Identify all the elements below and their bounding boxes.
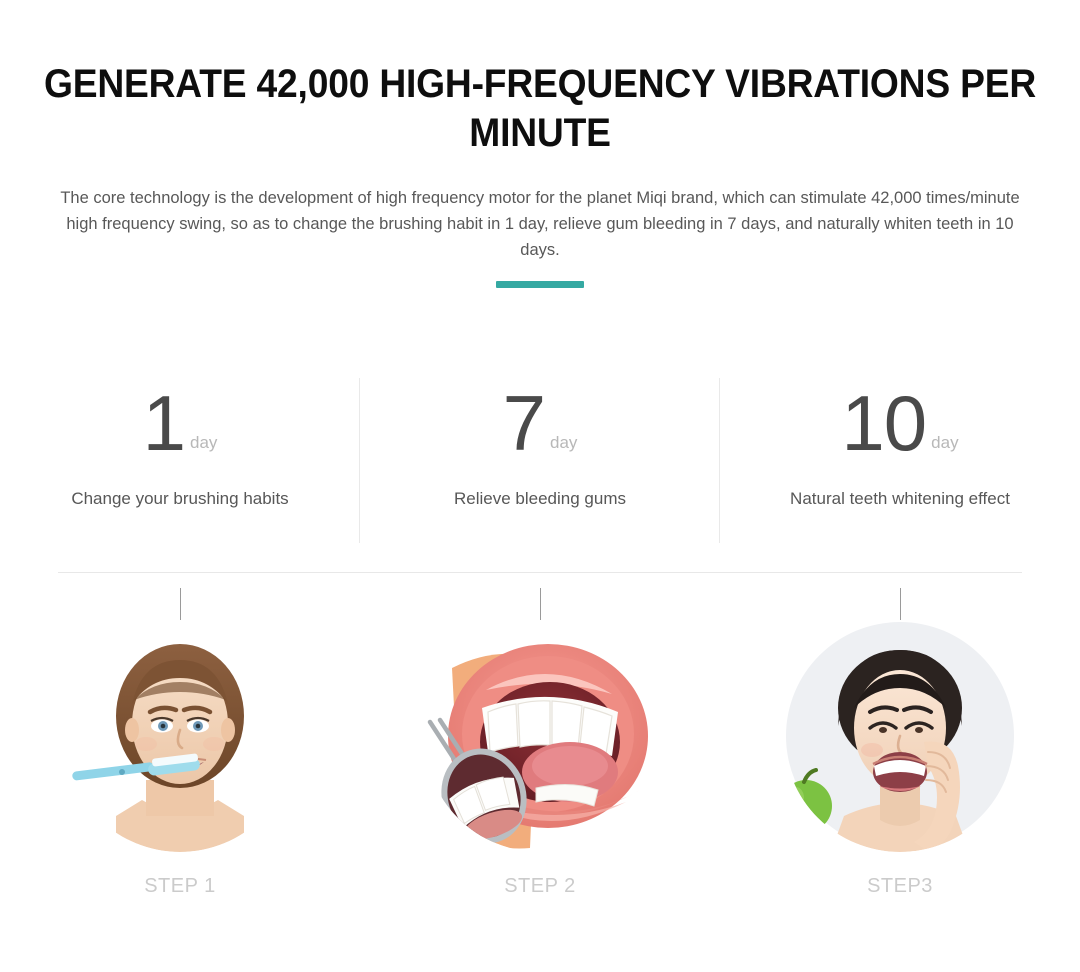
step-connector-line: [180, 588, 181, 620]
stat-number-group: 1 day: [143, 378, 218, 464]
stats-row: 1 day Change your brushing habits 7 day …: [0, 378, 1080, 543]
product-feature-page: GENERATE 42,000 HIGH-FREQUENCY VIBRATION…: [0, 0, 1080, 972]
page-title: GENERATE 42,000 HIGH-FREQUENCY VIBRATION…: [38, 60, 1042, 158]
open-mouth-dental-mirror-illustration: [424, 620, 656, 852]
step-label: STEP 1: [144, 874, 216, 898]
stat-item-10-day: 10 day Natural teeth whitening effect: [720, 378, 1080, 543]
accent-divider-bar: [496, 281, 584, 288]
step-item-3: STEP3: [720, 588, 1080, 908]
step-label: STEP 2: [504, 874, 576, 898]
step-item-2: STEP 2: [360, 588, 720, 908]
stat-number-group: 7 day: [503, 378, 578, 464]
stat-item-7-day: 7 day Relieve bleeding gums: [360, 378, 720, 543]
step-connector-line: [900, 588, 901, 620]
stat-number: 10: [841, 382, 926, 464]
steps-row: STEP 1: [0, 588, 1080, 908]
stat-caption: Natural teeth whitening effect: [790, 488, 1010, 510]
stat-number-group: 10 day: [841, 378, 958, 464]
section-divider-rule: [58, 572, 1022, 573]
stat-unit: day: [190, 434, 217, 451]
woman-brushing-teeth-illustration: [64, 620, 296, 852]
step-label: STEP3: [867, 874, 933, 898]
stat-caption: Relieve bleeding gums: [454, 488, 626, 510]
stat-unit: day: [550, 434, 577, 451]
stat-number: 7: [503, 382, 545, 464]
step-item-1: STEP 1: [0, 588, 360, 908]
page-description: The core technology is the development o…: [55, 185, 1025, 263]
smiling-woman-white-teeth-illustration: [784, 620, 1016, 852]
step-connector-line: [540, 588, 541, 620]
stat-caption: Change your brushing habits: [71, 488, 288, 510]
step-photo-dental-mirror: [424, 620, 656, 852]
stat-unit: day: [931, 434, 958, 451]
step-photo-brushing: [64, 620, 296, 852]
stat-number: 1: [143, 382, 185, 464]
stat-item-1-day: 1 day Change your brushing habits: [0, 378, 360, 543]
step-photo-smiling-woman: [784, 620, 1016, 852]
